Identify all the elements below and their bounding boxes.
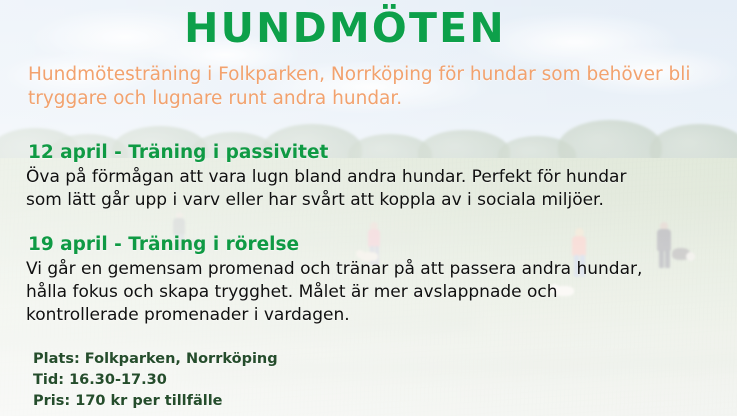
detail-place: Plats: Folkparken, Norrköping bbox=[33, 349, 278, 370]
poster-canvas: HUNDMÖTEN Hundmötesträning i Folkparken,… bbox=[0, 0, 737, 416]
detail-time: Tid: 16.30-17.30 bbox=[33, 370, 278, 391]
detail-price: Pris: 170 kr per tillfälle bbox=[33, 391, 278, 412]
section-heading-12-april: 12 april - Träning i passivitet bbox=[28, 142, 328, 163]
section-body-19-april: Vi går en gemensam promenad och tränar p… bbox=[26, 258, 658, 327]
event-details: Plats: Folkparken, Norrköping Tid: 16.30… bbox=[33, 349, 278, 412]
poster-subtitle: Hundmötesträning i Folkparken, Norrköpin… bbox=[28, 63, 718, 111]
poster-content: HUNDMÖTEN Hundmötesträning i Folkparken,… bbox=[0, 0, 737, 416]
page-title: HUNDMÖTEN bbox=[0, 4, 690, 52]
section-body-12-april: Öva på förmågan att vara lugn bland andr… bbox=[26, 166, 658, 212]
section-heading-19-april: 19 april - Träning i rörelse bbox=[28, 234, 299, 255]
